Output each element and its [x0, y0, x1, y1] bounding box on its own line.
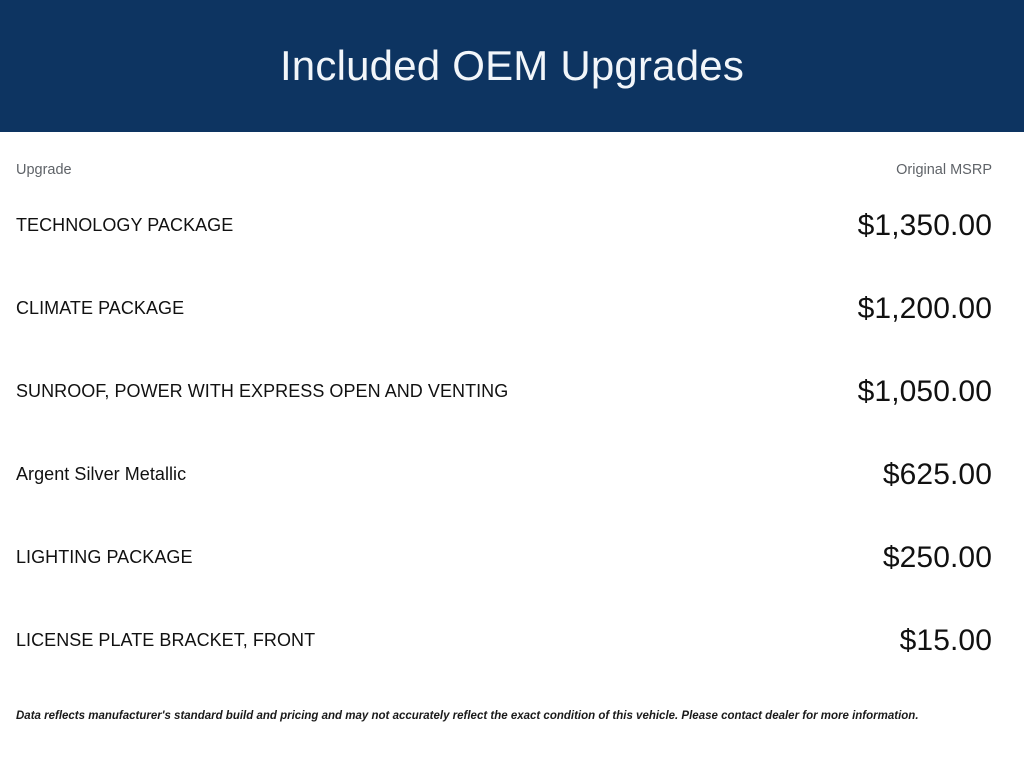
column-header-upgrade: Upgrade [16, 132, 621, 184]
upgrade-name: CLIMATE PACKAGE [16, 267, 621, 350]
table-row: CLIMATE PACKAGE $1,200.00 [16, 267, 992, 350]
upgrade-name: Argent Silver Metallic [16, 433, 621, 516]
table-header-row: Upgrade Original MSRP [16, 132, 992, 184]
upgrade-name: SUNROOF, POWER WITH EXPRESS OPEN AND VEN… [16, 350, 621, 433]
table-row: LIGHTING PACKAGE $250.00 [16, 516, 992, 599]
included-upgrades-table: Upgrade Original MSRP TECHNOLOGY PACKAGE… [16, 132, 992, 682]
footer-area: Data reflects manufacturer's standard bu… [0, 709, 1024, 768]
upgrade-name: LICENSE PLATE BRACKET, FRONT [16, 599, 621, 682]
upgrade-price: $625.00 [621, 433, 992, 516]
upgrade-name: LIGHTING PACKAGE [16, 516, 621, 599]
page-title: Included OEM Upgrades [280, 43, 744, 89]
upgrade-price: $1,200.00 [621, 267, 992, 350]
upgrade-price: $1,050.00 [621, 350, 992, 433]
table-row: LICENSE PLATE BRACKET, FRONT $15.00 [16, 599, 992, 682]
upgrade-price: $15.00 [621, 599, 992, 682]
upgrades-table-area: Upgrade Original MSRP TECHNOLOGY PACKAGE… [0, 132, 1024, 709]
table-row: SUNROOF, POWER WITH EXPRESS OPEN AND VEN… [16, 350, 992, 433]
upgrade-price: $1,350.00 [621, 184, 992, 267]
upgrade-name: TECHNOLOGY PACKAGE [16, 184, 621, 267]
upgrade-price: $250.00 [621, 516, 992, 599]
table-row: TECHNOLOGY PACKAGE $1,350.00 [16, 184, 992, 267]
oem-upgrades-page: Included OEM Upgrades Upgrade Original M… [0, 0, 1024, 768]
page-header-banner: Included OEM Upgrades [0, 0, 1024, 132]
column-header-original-msrp: Original MSRP [621, 132, 992, 184]
table-body: TECHNOLOGY PACKAGE $1,350.00 CLIMATE PAC… [16, 184, 992, 682]
table-row: Argent Silver Metallic $625.00 [16, 433, 992, 516]
disclaimer-text: Data reflects manufacturer's standard bu… [16, 709, 1008, 724]
